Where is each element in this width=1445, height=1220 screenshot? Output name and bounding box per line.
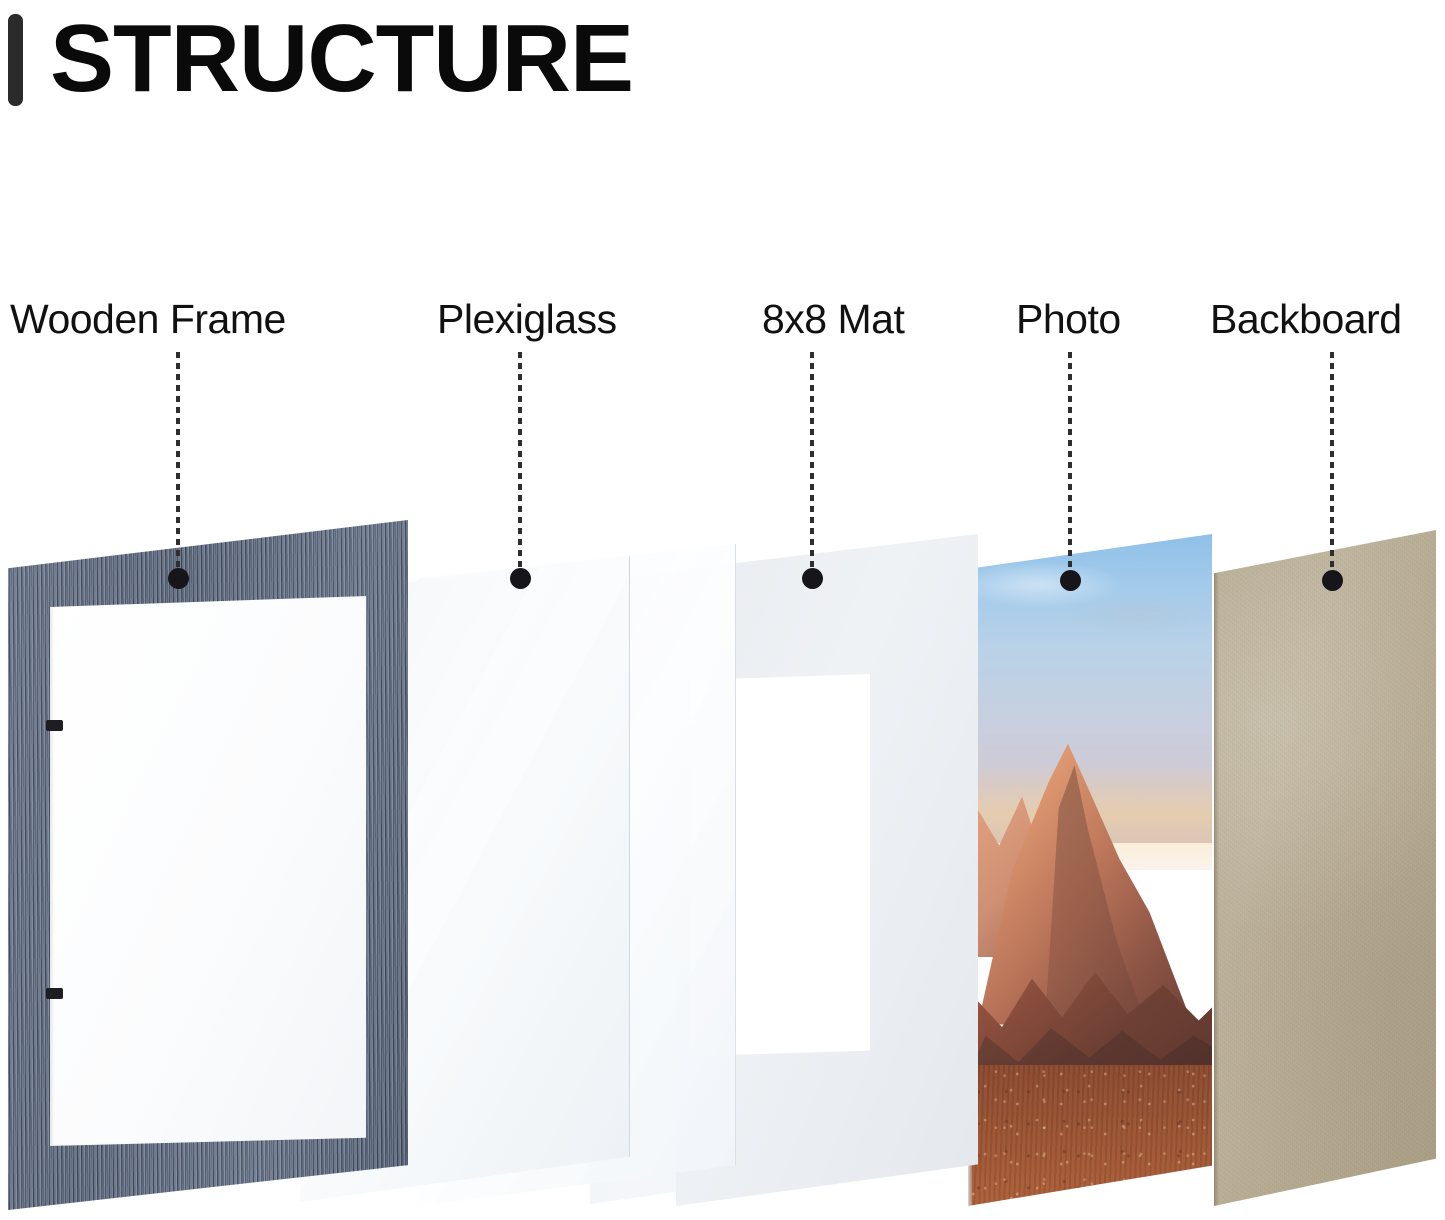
backboard-texture [1214, 530, 1436, 1206]
leader-dot-wooden-frame [168, 568, 189, 589]
leader-dot-backboard [1322, 570, 1343, 591]
backboard-edge [1214, 530, 1219, 1206]
label-mat: 8x8 Mat [762, 296, 904, 343]
frame-clip-icon [46, 988, 63, 999]
leader-line-backboard [1330, 352, 1334, 578]
structure-infographic: STRUCTURE Wooden Frame Plexiglass 8x8 Ma… [0, 0, 1445, 1220]
frame-clip-icon [46, 720, 63, 731]
label-plexiglass: Plexiglass [437, 296, 617, 343]
label-backboard: Backboard [1210, 296, 1402, 343]
frame-opening [50, 596, 366, 1146]
leader-line-photo [1068, 352, 1072, 578]
photo-panel [968, 534, 1212, 1206]
leader-line-wooden-frame [176, 352, 180, 576]
leader-dot-mat [802, 568, 823, 589]
wooden-frame-panel [8, 520, 408, 1210]
title-accent-bar [8, 14, 23, 106]
page-title: STRUCTURE [0, 0, 900, 130]
photo-cloud [1061, 594, 1212, 634]
leader-line-plexiglass [518, 352, 522, 576]
label-wooden-frame: Wooden Frame [10, 296, 286, 343]
backboard-panel [1214, 530, 1436, 1206]
photo-foreground-detail [968, 1065, 1212, 1206]
leader-dot-plexiglass [510, 568, 531, 589]
label-photo: Photo [1016, 296, 1121, 343]
leader-dot-photo [1060, 570, 1081, 591]
title-label: STRUCTURE [50, 4, 633, 114]
photo-image [968, 534, 1212, 1206]
leader-line-mat [810, 352, 814, 576]
